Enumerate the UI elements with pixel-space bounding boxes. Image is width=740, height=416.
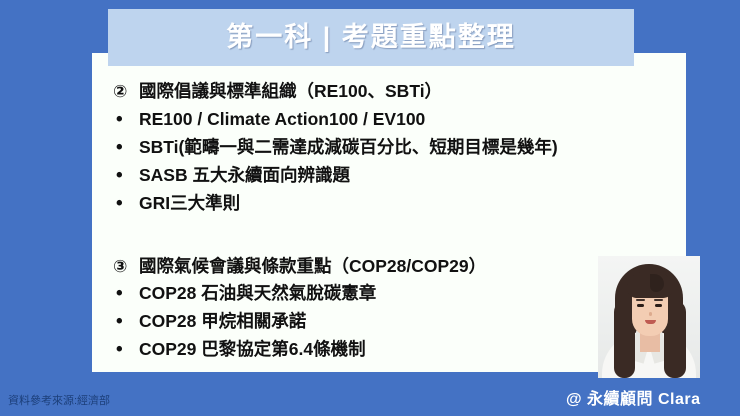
bullet-list-body: ② 國際倡議與標準組織（RE100、SBTi） • RE100 / Climat… (113, 83, 676, 368)
list-item: • COP28 甲烷相關承諾 (113, 312, 676, 331)
content-card: ② 國際倡議與標準組織（RE100、SBTi） • RE100 / Climat… (92, 53, 686, 372)
circled-number-3-icon: ③ (113, 258, 139, 275)
page-title: 第一科 | 考題重點整理 (226, 24, 516, 51)
presentation-slide: 第一科 | 考題重點整理 ② 國際倡議與標準組織（RE100、SBTi） • R… (0, 0, 740, 416)
list-item-note: (範疇一與二需達成減碳百分比、短期目標是幾年) (179, 139, 558, 157)
presenter-eyebrow-right (654, 299, 663, 301)
presenter-webcam-overlay[interactable] (598, 256, 700, 378)
list-item: • SBTi (範疇一與二需達成減碳百分比、短期目標是幾年) (113, 138, 676, 157)
list-item: • GRI三大準則 (113, 194, 676, 213)
list-item-text: GRI三大準則 (139, 195, 240, 213)
list-item-text: SASB 五大永續面向辨識題 (139, 167, 350, 185)
presenter-nose (649, 312, 652, 316)
bullet-dot-icon: • (113, 110, 139, 129)
list-item-text: RE100 / Climate Action100 / EV100 (139, 111, 425, 129)
presenter-eye-right (655, 304, 662, 307)
channel-watermark: @ 永續顧問 Clara (566, 385, 701, 409)
content-group-3: ③ 國際氣候會議與條款重點（COP28/COP29） • COP28 石油與天然… (113, 258, 676, 360)
list-item-text: COP28 甲烷相關承諾 (139, 313, 306, 331)
bullet-dot-icon: • (113, 312, 139, 331)
bullet-dot-icon: • (113, 194, 139, 213)
group-spacer (113, 222, 676, 258)
bullet-dot-icon: • (113, 166, 139, 185)
content-group-2: ② 國際倡議與標準組織（RE100、SBTi） • RE100 / Climat… (113, 83, 676, 213)
presenter-eye-left (637, 304, 644, 307)
group-heading-2-text: 國際倡議與標準組織（RE100、SBTi） (139, 83, 442, 101)
list-item: • COP29 巴黎協定第6.4條機制 (113, 340, 676, 359)
presenter-eyebrow-left (636, 299, 645, 301)
group-heading-3-text: 國際氣候會議與條款重點（COP28/COP29） (139, 258, 486, 276)
group-heading-3: ③ 國際氣候會議與條款重點（COP28/COP29） (113, 258, 676, 276)
list-item: • COP28 石油與天然氣脫碳憲章 (113, 284, 676, 303)
bullet-dot-icon: • (113, 340, 139, 359)
source-note: 資料參考來源:經濟部 (8, 392, 110, 408)
list-item: • RE100 / Climate Action100 / EV100 (113, 110, 676, 129)
list-item-text: COP29 巴黎協定第6.4條機制 (139, 341, 366, 359)
bullet-dot-icon: • (113, 284, 139, 303)
title-banner: 第一科 | 考題重點整理 (108, 9, 634, 66)
circled-number-2-icon: ② (113, 83, 139, 100)
group-heading-2: ② 國際倡議與標準組織（RE100、SBTi） (113, 83, 676, 101)
bullet-dot-icon: • (113, 138, 139, 157)
list-item-text: SBTi (139, 139, 179, 157)
list-item-text: COP28 石油與天然氣脫碳憲章 (139, 285, 376, 303)
list-item: • SASB 五大永續面向辨識題 (113, 166, 676, 185)
